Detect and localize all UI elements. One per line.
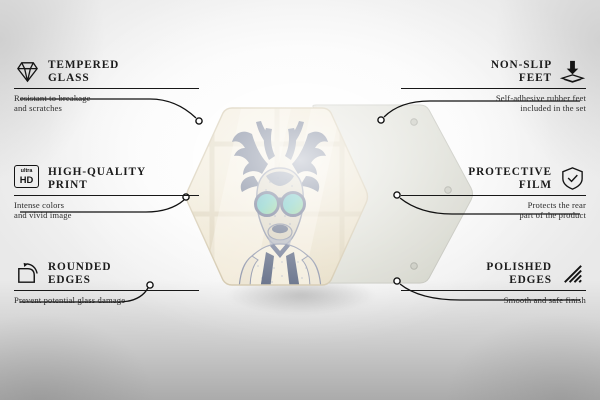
divider <box>401 195 586 196</box>
diamond-icon <box>14 58 41 85</box>
feature-description: Self-adhesive rubber feet included in th… <box>401 93 586 114</box>
feature-title: ROUNDED EDGES <box>48 261 111 287</box>
divider <box>401 290 586 291</box>
divider <box>14 88 199 89</box>
feature-description: Prevent potential glass damage <box>14 295 199 305</box>
feature-description: Protects the rear part of the product <box>401 200 586 221</box>
feature-tempered-glass: TEMPERED GLASS Resistant to breakage and… <box>14 58 199 113</box>
divider <box>401 88 586 89</box>
shield-check-icon <box>559 165 586 192</box>
ultra-hd-icon: ultra HD <box>14 165 41 192</box>
ultra-hd-icon-main-text: HD <box>20 175 34 185</box>
leader-endpoint <box>378 117 384 123</box>
feature-title: POLISHED EDGES <box>486 261 552 287</box>
hatched-triangle-icon <box>559 260 586 287</box>
leader-endpoint <box>394 192 400 198</box>
feature-title: NON-SLIP FEET <box>491 59 552 85</box>
divider <box>14 290 199 291</box>
feature-polished-edges: POLISHED EDGES Smooth and safe finish <box>401 260 586 305</box>
feature-description: Resistant to breakage and scratches <box>14 93 199 114</box>
infographic-canvas: TEMPERED GLASS Resistant to breakage and… <box>0 0 600 400</box>
feature-rounded-edges: ROUNDED EDGES Prevent potential glass da… <box>14 260 199 305</box>
feature-title: PROTECTIVE FILM <box>468 166 552 192</box>
feature-protective-film: PROTECTIVE FILM Protects the rear part o… <box>401 165 586 220</box>
leader-endpoint <box>394 278 400 284</box>
feature-high-quality-print: ultra HD HIGH-QUALITY PRINT Intense colo… <box>14 165 199 220</box>
feature-title: HIGH-QUALITY PRINT <box>48 166 146 192</box>
feature-title: TEMPERED GLASS <box>48 59 119 85</box>
press-down-pad-icon <box>559 58 586 85</box>
divider <box>14 195 199 196</box>
leader-endpoint <box>196 118 202 124</box>
feature-description: Smooth and safe finish <box>401 295 586 305</box>
feature-description: Intense colors and vivid image <box>14 200 199 221</box>
feature-non-slip-feet: NON-SLIP FEET Self-adhesive rubber feet … <box>401 58 586 113</box>
rounded-corner-icon <box>14 260 41 287</box>
